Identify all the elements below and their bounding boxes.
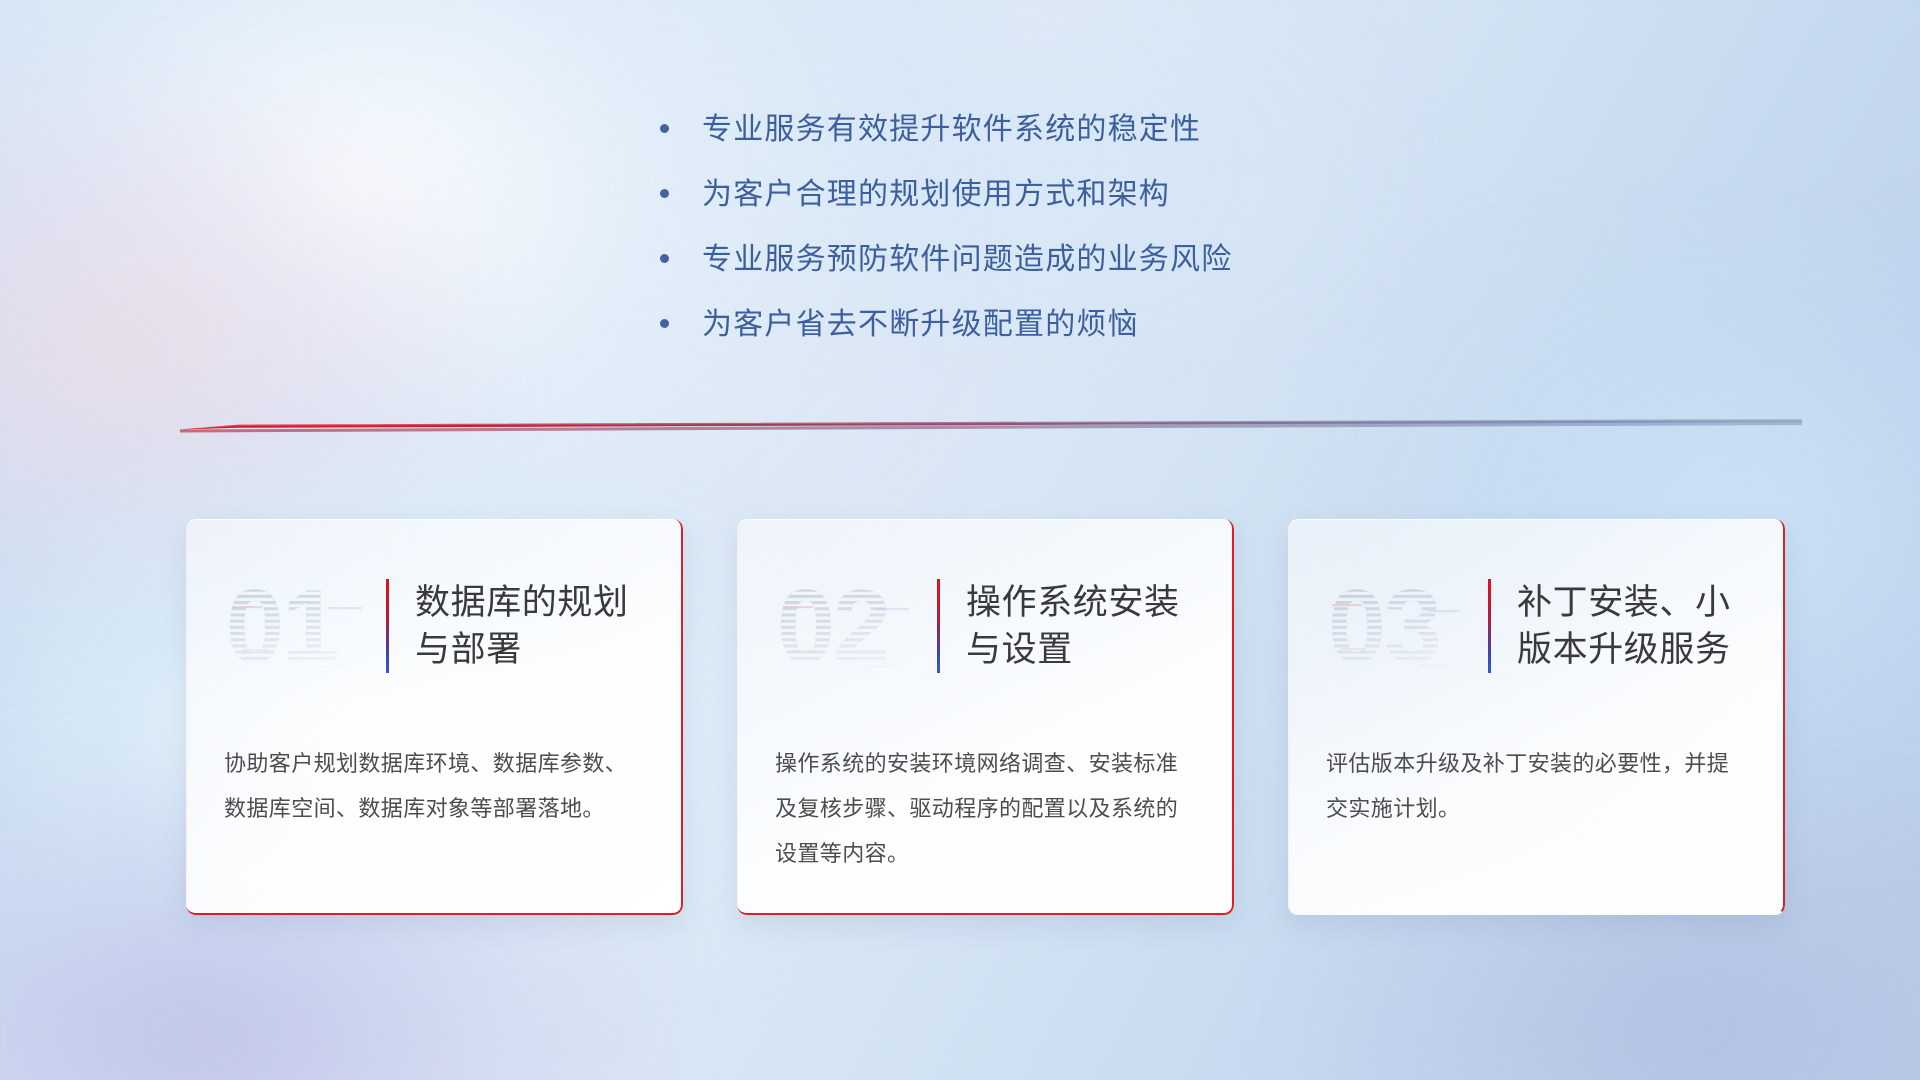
card-number-watermark: 01 01 <box>224 570 374 682</box>
card-description: 评估版本升级及补丁安装的必要性，并提交实施计划。 <box>1326 741 1746 831</box>
service-card[interactable]: 02 02 操作系统安装 与设置 操作系统的安装环境网络调查、安装标准及复核步骤… <box>737 519 1234 915</box>
service-card[interactable]: 03 03 补丁安装、小 版本升级服务 评估版本升级及补丁安装的必要性，并提交实… <box>1288 519 1785 915</box>
bullet-dot-icon <box>660 254 669 263</box>
card-header: 01 01 数据库的规划 与部署 <box>186 567 683 685</box>
bullet-text: 为客户合理的规划使用方式和架构 <box>702 169 1170 213</box>
bullet-dot-icon <box>660 189 669 198</box>
card-title-accent-bar <box>1488 579 1491 673</box>
card-description: 协助客户规划数据库环境、数据库参数、数据库空间、数据库对象等部署落地。 <box>224 741 644 831</box>
card-title-accent-bar <box>386 579 389 673</box>
list-item: 为客户合理的规划使用方式和架构 <box>660 169 1420 234</box>
card-title: 补丁安装、小 版本升级服务 <box>1517 579 1731 673</box>
bullet-text: 为客户省去不断升级配置的烦恼 <box>702 299 1139 343</box>
list-item: 为客户省去不断升级配置的烦恼 <box>660 299 1420 364</box>
bullet-dot-icon <box>660 124 669 133</box>
card-number-watermark: 02 02 <box>775 570 925 682</box>
card-title: 数据库的规划 与部署 <box>415 579 629 673</box>
benefits-bullet-list: 专业服务有效提升软件系统的稳定性 为客户合理的规划使用方式和架构 专业服务预防软… <box>660 104 1420 364</box>
divider-shape <box>180 416 1802 438</box>
card-title: 操作系统安装 与设置 <box>966 579 1180 673</box>
card-number-watermark: 03 03 <box>1326 570 1476 682</box>
service-card-list: 01 01 数据库的规划 与部署 协助客户规划数据库环境、数据库参数、数据库空间… <box>186 519 1786 917</box>
list-item: 专业服务有效提升软件系统的稳定性 <box>660 104 1420 169</box>
card-header: 03 03 补丁安装、小 版本升级服务 <box>1288 567 1785 685</box>
section-divider <box>180 416 1802 438</box>
card-title-accent-bar <box>937 579 940 673</box>
card-description: 操作系统的安装环境网络调查、安装标准及复核步骤、驱动程序的配置以及系统的设置等内… <box>775 741 1195 876</box>
card-header: 02 02 操作系统安装 与设置 <box>737 567 1234 685</box>
service-card[interactable]: 01 01 数据库的规划 与部署 协助客户规划数据库环境、数据库参数、数据库空间… <box>186 519 683 915</box>
svg-text:01: 01 <box>226 570 338 682</box>
bullet-text: 专业服务预防软件问题造成的业务风险 <box>702 234 1232 278</box>
list-item: 专业服务预防软件问题造成的业务风险 <box>660 234 1420 299</box>
bullet-text: 专业服务有效提升软件系统的稳定性 <box>702 104 1201 148</box>
bullet-dot-icon <box>660 319 669 328</box>
